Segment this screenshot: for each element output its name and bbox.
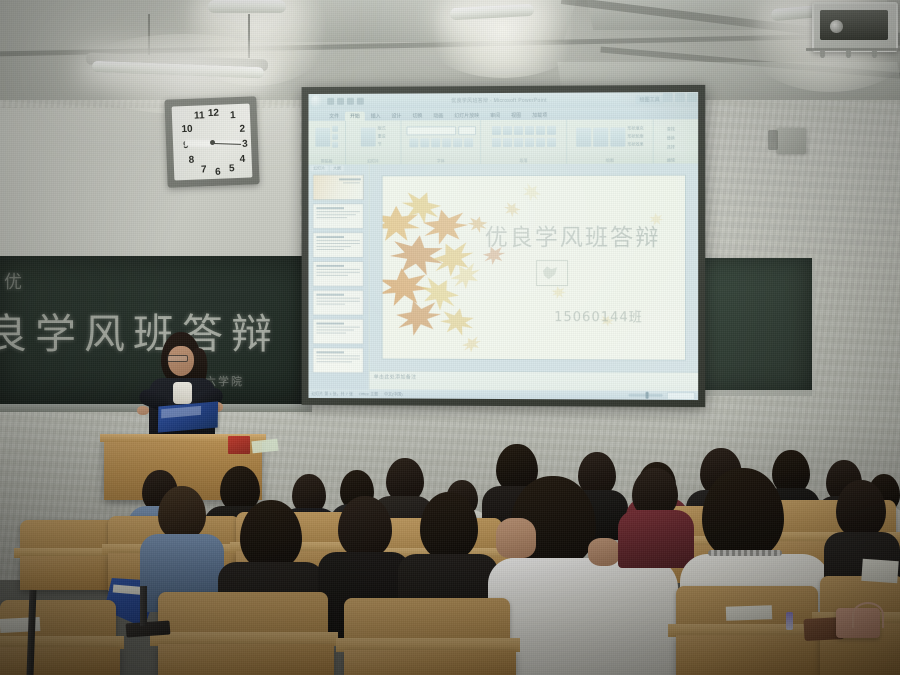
water-bottle xyxy=(786,612,793,630)
slide-class-id[interactable]: 15060144班 xyxy=(554,306,643,325)
slide-thumbnail[interactable]: 2 xyxy=(312,203,363,229)
section-label[interactable]: 节 xyxy=(378,141,386,147)
font-size-combo[interactable] xyxy=(458,126,476,135)
projector-body xyxy=(820,10,888,40)
align-left-button[interactable] xyxy=(492,138,501,147)
projector-housing xyxy=(812,2,898,52)
clock-face: 12 1 2 3 4 5 6 7 8 9 10 11 xyxy=(172,104,253,181)
tab-outline-pane[interactable]: 大纲 xyxy=(330,165,344,171)
minimize-button[interactable] xyxy=(663,93,673,102)
new-slide-button[interactable] xyxy=(361,127,376,146)
slide-logo-placeholder[interactable] xyxy=(536,260,568,286)
desk xyxy=(344,650,516,675)
undo-icon[interactable] xyxy=(337,98,344,105)
slide-title[interactable]: 优良学风班答辩 xyxy=(485,218,661,252)
classroom-photo: 12 1 2 3 4 5 6 7 8 9 10 11 优 良学风班答辩 六学院 xyxy=(0,0,900,675)
save-icon[interactable] xyxy=(327,98,334,105)
status-theme: Office 主题 xyxy=(359,391,378,397)
tab-insert[interactable]: 插入 xyxy=(366,112,386,121)
clock-number: 11 xyxy=(194,111,205,121)
wall-clock: 12 1 2 3 4 5 6 7 8 9 10 11 xyxy=(164,96,259,187)
clock-number: 2 xyxy=(239,125,245,135)
paper-sheet xyxy=(726,605,772,621)
clock-number: 10 xyxy=(181,125,193,135)
shapes-gallery[interactable] xyxy=(576,127,591,146)
glasses-icon xyxy=(167,355,188,362)
close-button[interactable] xyxy=(687,93,697,102)
italic-button[interactable] xyxy=(420,138,429,147)
tab-file[interactable]: 文件 xyxy=(324,112,344,121)
justify-button[interactable] xyxy=(524,138,533,147)
clock-hour-hand xyxy=(185,141,212,146)
ribbon[interactable]: 剪贴板 版式 重设 节 幻灯片 xyxy=(308,119,698,165)
bold-button[interactable] xyxy=(409,138,418,147)
handbag-strap xyxy=(852,602,884,628)
thumbnail-pane-tabs[interactable]: 幻灯片 大纲 xyxy=(308,164,368,172)
paper-stack xyxy=(861,559,898,583)
tab-animations[interactable]: 动画 xyxy=(428,111,448,120)
slide-thumbnail[interactable]: 5 xyxy=(312,290,363,316)
status-slide-indicator: 幻灯片 第 1 张，共 7 张 xyxy=(311,391,352,397)
ribbon-group-font[interactable]: 字体 xyxy=(401,120,481,164)
tab-slideshow[interactable]: 幻灯片放映 xyxy=(449,111,484,120)
maximize-button[interactable] xyxy=(675,93,685,102)
projector-lens xyxy=(830,20,843,33)
align-right-button[interactable] xyxy=(513,138,522,147)
quick-access-toolbar[interactable] xyxy=(327,98,364,105)
tab-view[interactable]: 视图 xyxy=(506,111,526,120)
presentation-folder xyxy=(158,401,218,432)
contextual-tab-group: 绘图工具 xyxy=(635,95,663,104)
slide-thumbnail[interactable]: 7 xyxy=(312,347,363,373)
shape-effects-label[interactable]: 形状效果 xyxy=(627,141,643,147)
clock-number: 4 xyxy=(240,155,246,165)
copy-icon[interactable] xyxy=(332,134,338,140)
columns-button[interactable] xyxy=(536,138,545,147)
find-label[interactable]: 查找 xyxy=(667,126,675,132)
fit-to-window-button[interactable] xyxy=(667,391,695,399)
tab-slides-pane[interactable]: 幻灯片 xyxy=(310,165,328,171)
font-color-button[interactable] xyxy=(464,138,473,147)
paste-button[interactable] xyxy=(315,127,330,146)
strikethrough-button[interactable] xyxy=(453,138,462,147)
numbering-button[interactable] xyxy=(502,126,511,135)
tab-home[interactable]: 开始 xyxy=(345,112,365,121)
wall-speaker xyxy=(776,128,806,154)
replace-label[interactable]: 替换 xyxy=(667,135,675,141)
seat-back xyxy=(158,592,328,636)
neck xyxy=(588,538,620,566)
increase-indent-button[interactable] xyxy=(524,126,533,135)
quick-styles-button[interactable] xyxy=(610,127,625,146)
slide-thumbnail[interactable]: 3 xyxy=(312,232,363,258)
smartart-button[interactable] xyxy=(547,138,556,147)
necklace xyxy=(708,550,782,556)
blackboard-top-text: 优 xyxy=(4,268,25,294)
format-painter-icon[interactable] xyxy=(332,142,338,148)
powerpoint-window: 优良学风班答辩 - Microsoft PowerPoint 绘图工具 文件 开… xyxy=(308,92,698,400)
window-title: 优良学风班答辩 - Microsoft PowerPoint xyxy=(364,96,636,104)
clock-number: 12 xyxy=(208,109,220,119)
tab-review[interactable]: 审阅 xyxy=(485,111,505,120)
customize-qat-icon[interactable] xyxy=(357,98,364,105)
presenter-shirt xyxy=(173,382,192,404)
redo-icon[interactable] xyxy=(347,98,354,105)
slide-thumbnail[interactable]: 4 xyxy=(312,261,363,287)
presenter xyxy=(135,332,231,450)
shape-outline-label[interactable]: 形状轮廓 xyxy=(627,133,643,139)
cut-icon[interactable] xyxy=(332,126,338,132)
ribbon-group-editing[interactable]: 查找 替换 选择 编辑 xyxy=(654,119,688,163)
clock-number: 8 xyxy=(189,156,195,166)
red-box-on-podium xyxy=(228,436,250,454)
desk xyxy=(676,635,826,675)
clock-number: 1 xyxy=(230,111,236,121)
underline-button[interactable] xyxy=(431,138,440,147)
slide-editing-area[interactable]: 优良学风班答辩 15060144班 xyxy=(370,163,698,371)
ribbon-group-paragraph[interactable]: 段落 xyxy=(481,120,567,164)
clock-number: 7 xyxy=(201,165,207,175)
ceiling-light-tube xyxy=(208,0,286,13)
shadow-button[interactable] xyxy=(442,138,451,147)
clock-number: 6 xyxy=(215,168,221,178)
clock-number: 3 xyxy=(242,140,248,150)
desk xyxy=(0,647,120,675)
arrange-button[interactable] xyxy=(593,127,608,146)
bullets-button[interactable] xyxy=(492,126,501,135)
presenter-left-hand xyxy=(137,406,149,415)
tab-design[interactable]: 设计 xyxy=(387,111,407,120)
desk xyxy=(158,644,334,675)
clock-number: 5 xyxy=(229,164,235,174)
seat-back xyxy=(344,598,510,642)
status-language: 中文(中国) xyxy=(384,391,403,397)
ribbon-group-slides[interactable]: 版式 重设 节 幻灯片 xyxy=(346,120,401,164)
projection-screen: 优良学风班答辩 - Microsoft PowerPoint 绘图工具 文件 开… xyxy=(302,85,706,407)
window-controls[interactable] xyxy=(663,93,697,102)
layout-label[interactable]: 版式 xyxy=(378,125,386,131)
reset-label[interactable]: 重设 xyxy=(378,133,386,139)
align-center-button[interactable] xyxy=(502,138,511,147)
current-slide[interactable]: 优良学风班答辩 15060144班 xyxy=(382,175,686,360)
ribbon-group-clipboard[interactable]: 剪贴板 xyxy=(308,121,346,165)
select-label[interactable]: 选择 xyxy=(667,144,675,150)
student xyxy=(140,486,224,606)
text-direction-button[interactable] xyxy=(547,126,556,135)
raised-hand xyxy=(496,518,536,558)
slide-thumbnail[interactable]: 1 xyxy=(312,174,363,200)
tab-transitions[interactable]: 切换 xyxy=(407,111,427,120)
office-orb-icon[interactable] xyxy=(310,95,323,108)
line-spacing-button[interactable] xyxy=(536,126,545,135)
font-name-combo[interactable] xyxy=(406,126,456,135)
status-bar: 幻灯片 第 1 张，共 7 张 Office 主题 中文(中国) xyxy=(308,389,698,400)
decrease-indent-button[interactable] xyxy=(513,126,522,135)
slide-thumbnail-pane[interactable]: 幻灯片 大纲 1 2 3 xyxy=(308,164,368,398)
ribbon-group-drawing[interactable]: 形状填充 形状轮廓 形状效果 绘图 xyxy=(567,119,654,163)
notes-placeholder: 单击此处添加备注 xyxy=(374,373,694,381)
tab-addins[interactable]: 加载项 xyxy=(527,111,552,120)
shape-fill-label[interactable]: 形状填充 xyxy=(627,125,643,131)
slide-thumbnail[interactable]: 6 xyxy=(312,319,363,345)
ppt-workspace: 幻灯片 大纲 1 2 3 xyxy=(308,163,698,400)
zoom-slider[interactable] xyxy=(628,394,662,397)
